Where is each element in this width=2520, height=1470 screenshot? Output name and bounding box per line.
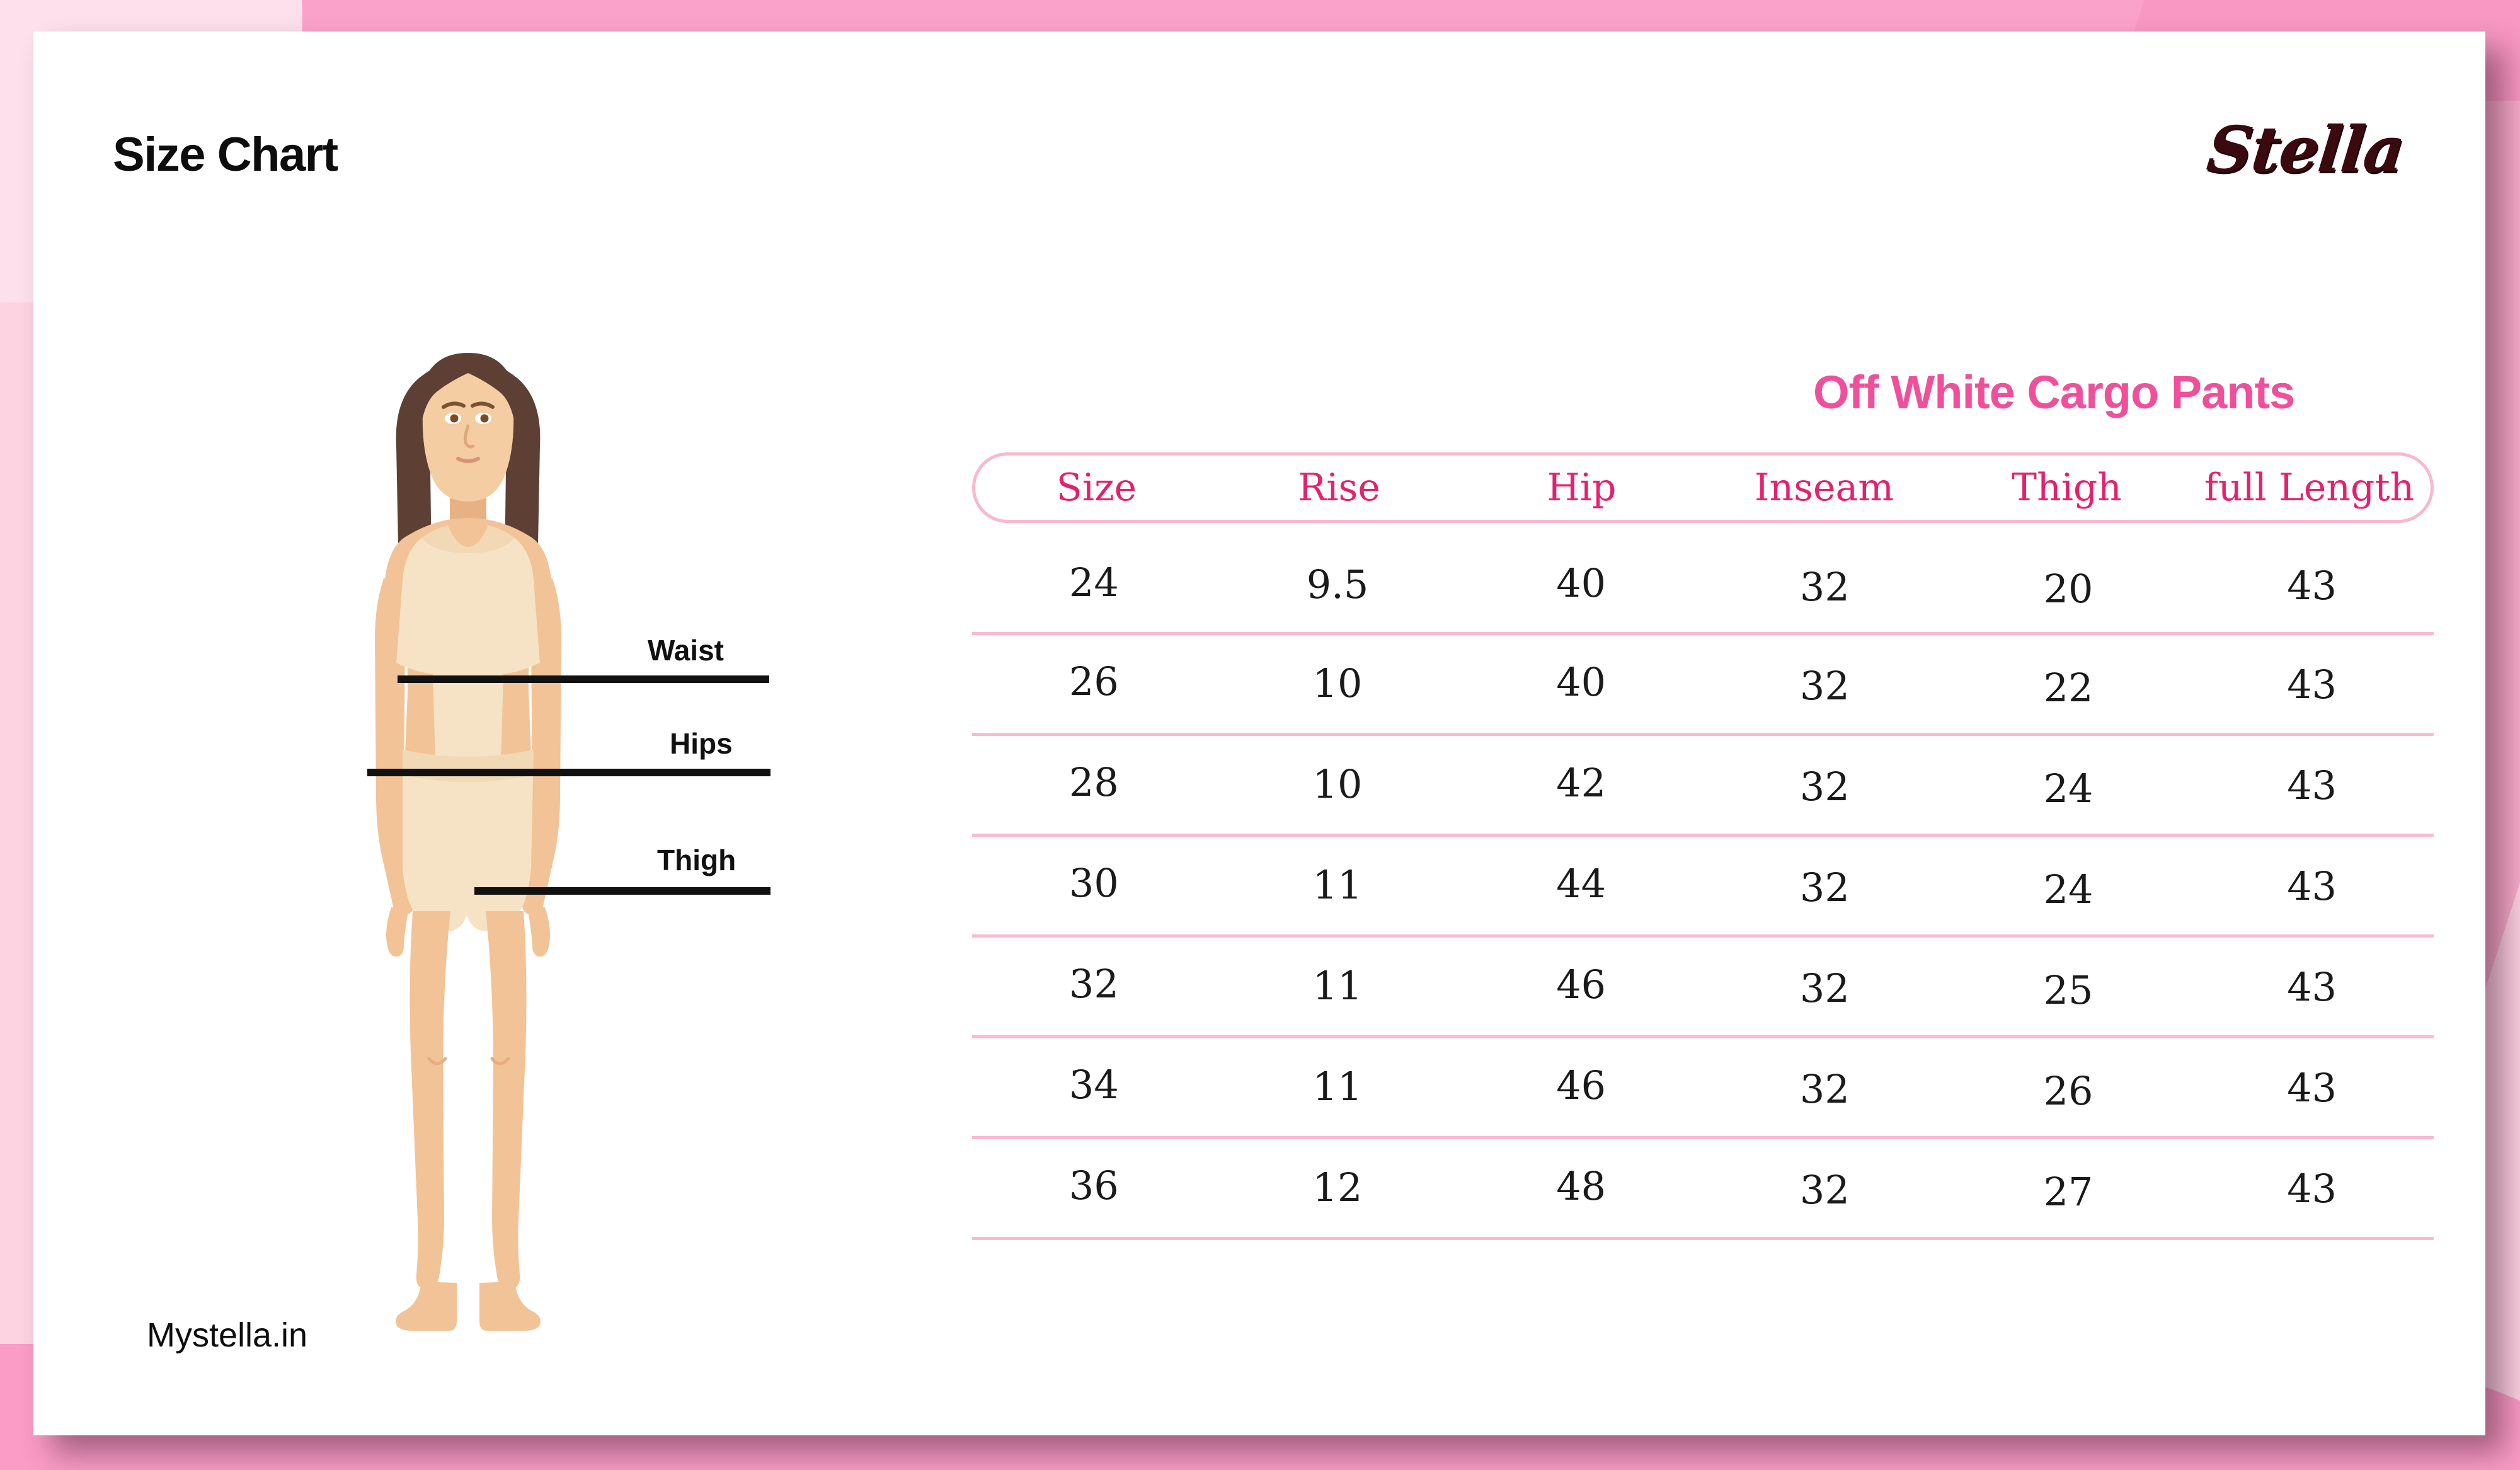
table-row: 361248322743 [972,1139,2434,1240]
footer-website: Mystella.in [147,1316,307,1355]
table-cell: 27 [1947,1173,2191,1212]
table-cell: 11 [1216,967,1460,1006]
table-cell: 46 [1459,1066,1703,1105]
table-cell: 43 [2190,665,2434,704]
female-body-icon [273,284,663,1342]
table-cell: 24 [1947,870,2191,909]
table-cell: 43 [2190,1069,2434,1108]
table-cell: 43 [2190,867,2434,906]
table-column-header: Inseam [1703,469,1945,507]
table-cell: 12 [1216,1168,1460,1207]
table-cell: 36 [972,1166,1216,1205]
hips-guide-line [367,769,770,776]
thigh-guide-label: Thigh [657,843,736,877]
table-cell: 22 [1947,669,2191,708]
table-cell: 9.5 [1216,565,1460,604]
page-title: Size Chart [113,127,338,182]
table-cell: 11 [1216,1067,1460,1106]
table-cell: 24 [972,563,1216,602]
table-cell: 32 [1703,969,1947,1008]
body-figure-illustration [273,284,663,1342]
table-column-header: Hip [1460,469,1703,507]
table-cell: 42 [1459,764,1703,803]
size-table: SizeRiseHipInseamThighfull Length 249.54… [972,452,2434,1240]
table-cell: 26 [1947,1072,2191,1111]
size-chart-card: Size Chart Stella [33,32,2485,1435]
table-cell: 32 [1703,767,1947,807]
table-row: 321146322543 [972,938,2434,1038]
table-cell: 25 [1947,971,2191,1010]
table-cell: 43 [2190,566,2434,606]
table-cell: 32 [972,965,1216,1004]
table-cell: 24 [1947,769,2191,808]
table-row: 281042322443 [972,736,2434,837]
table-cell: 20 [1947,570,2191,609]
table-column-header: full Length [2188,469,2431,507]
waist-guide-label: Waist [648,633,724,667]
table-column-header: Rise [1218,469,1460,507]
table-row: 301144322443 [972,837,2434,938]
table-cell: 11 [1216,866,1460,905]
table-cell: 32 [1703,1171,1947,1210]
table-cell: 32 [1703,868,1947,907]
table-row: 249.540322043 [972,534,2434,635]
product-title: Off White Cargo Pants [1813,365,2294,419]
table-cell: 32 [1703,1070,1947,1109]
table-row: 341146322643 [972,1038,2434,1139]
brand-logo: Stella [2204,112,2407,187]
thigh-guide-line [474,887,770,895]
table-cell: 10 [1216,664,1460,703]
table-cell: 32 [1703,667,1947,706]
waist-guide-line [398,675,769,683]
table-cell: 40 [1459,663,1703,702]
table-cell: 32 [1703,568,1947,607]
table-header-row: SizeRiseHipInseamThighfull Length [972,452,2434,523]
table-column-header: Thigh [1945,469,2188,507]
table-cell: 44 [1459,864,1703,904]
table-cell: 43 [2190,968,2434,1007]
hips-guide-label: Hips [670,726,733,761]
table-cell: 43 [2190,1169,2434,1209]
table-cell: 26 [972,662,1216,701]
table-cell: 28 [972,763,1216,802]
table-column-header: Size [975,469,1218,507]
table-cell: 34 [972,1065,1216,1105]
table-body: 249.540322043261040322243281042322443301… [972,534,2434,1240]
table-cell: 40 [1459,564,1703,603]
table-cell: 46 [1459,965,1703,1004]
table-cell: 43 [2190,766,2434,805]
table-cell: 30 [972,864,1216,903]
table-cell: 10 [1216,765,1460,804]
table-cell: 48 [1459,1167,1703,1206]
table-row: 261040322243 [972,635,2434,736]
